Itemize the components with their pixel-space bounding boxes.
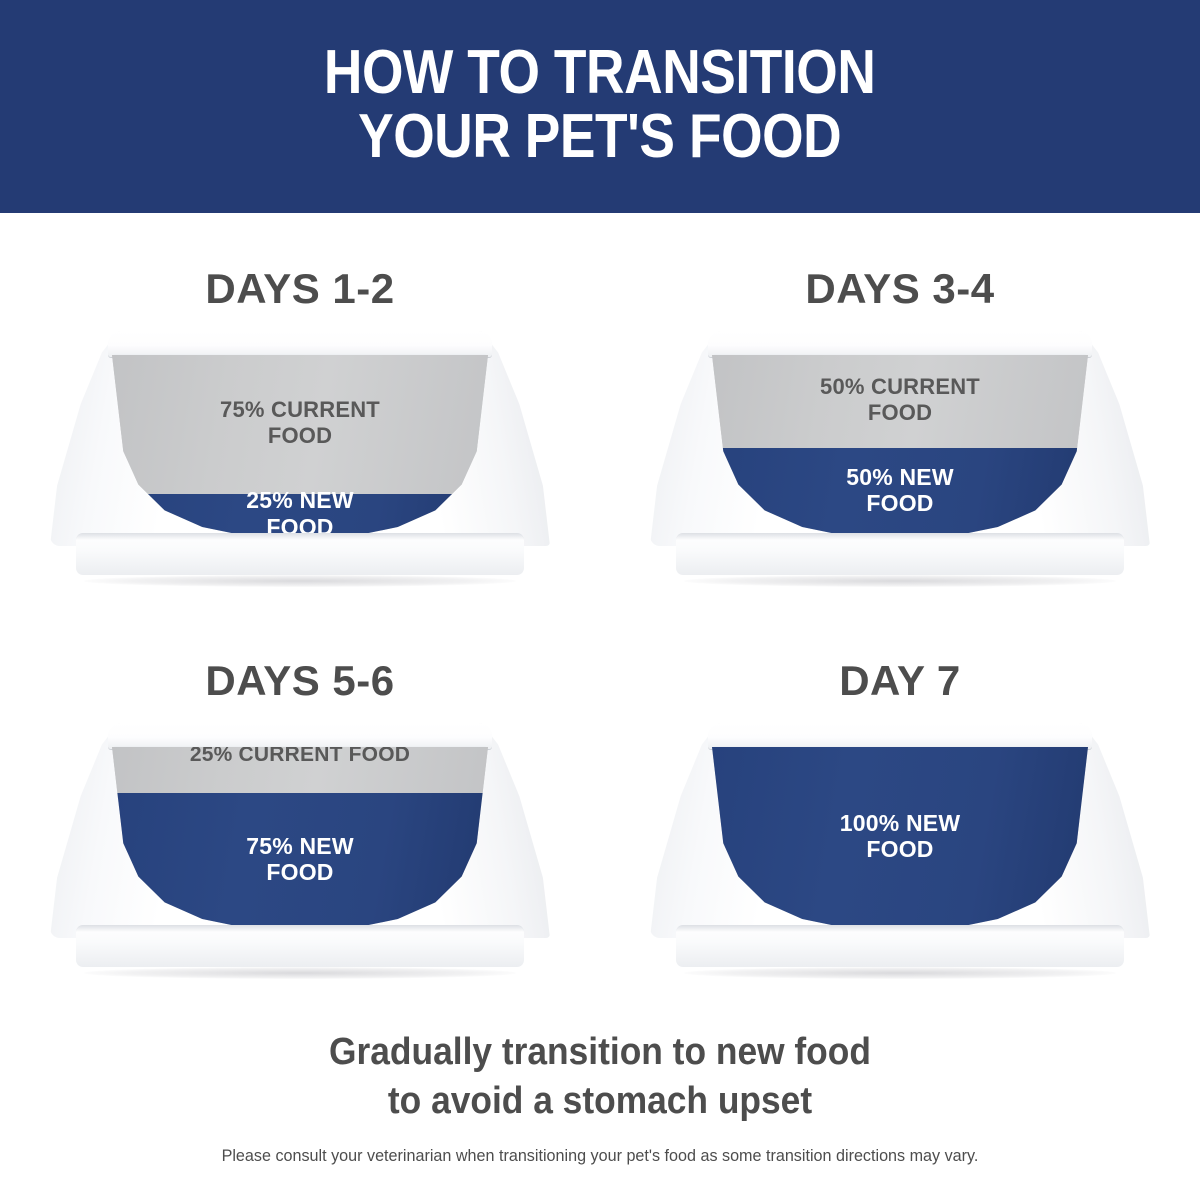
bowl-base bbox=[676, 533, 1124, 575]
footer-tagline: Gradually transition to new food to avoi… bbox=[42, 1028, 1158, 1125]
step-title: DAY 7 bbox=[600, 657, 1200, 705]
bowl-shadow bbox=[84, 967, 516, 979]
current-food-label: 50% CURRENT FOOD bbox=[712, 374, 1088, 425]
bowl-rim bbox=[708, 331, 1092, 357]
transition-step-panel: DAYS 1-2 75% CURRENT FOOD 25% NEW FOOD bbox=[0, 213, 600, 618]
bowl-shadow bbox=[684, 967, 1116, 979]
pet-food-bowl: 75% CURRENT FOOD 25% NEW FOOD bbox=[50, 331, 550, 581]
pet-food-bowl: 100% NEW FOOD bbox=[650, 723, 1150, 973]
bowl-base bbox=[76, 533, 524, 575]
bowl-rim bbox=[108, 331, 492, 357]
bowl-rim bbox=[108, 723, 492, 749]
bowl-cavity: 75% CURRENT FOOD 25% NEW FOOD bbox=[112, 355, 488, 540]
bowl-shadow bbox=[84, 575, 516, 587]
new-food-label: 50% NEW FOOD bbox=[712, 464, 1088, 517]
transition-step-panel: DAY 7 100% NEW FOOD bbox=[600, 605, 1200, 1010]
bowl-shadow bbox=[684, 575, 1116, 587]
transition-step-panel: DAYS 5-6 25% CURRENT FOOD 75% NEW FOOD bbox=[0, 605, 600, 1010]
transition-steps-grid: DAYS 1-2 75% CURRENT FOOD 25% NEW FOOD D… bbox=[0, 213, 1200, 1023]
new-food-label: 75% NEW FOOD bbox=[112, 833, 488, 886]
step-title: DAYS 1-2 bbox=[0, 265, 600, 313]
pet-food-bowl: 50% CURRENT FOOD 50% NEW FOOD bbox=[650, 331, 1150, 581]
bowl-cavity: 100% NEW FOOD bbox=[712, 747, 1088, 932]
bowl-base bbox=[676, 925, 1124, 967]
bowl-cavity: 50% CURRENT FOOD 50% NEW FOOD bbox=[712, 355, 1088, 540]
page-title: HOW TO TRANSITION YOUR PET'S FOOD bbox=[324, 41, 876, 167]
step-title: DAYS 3-4 bbox=[600, 265, 1200, 313]
bowl-rim bbox=[708, 723, 1092, 749]
bowl-base bbox=[76, 925, 524, 967]
current-food-label: 75% CURRENT FOOD bbox=[112, 397, 488, 448]
current-food-label: 25% CURRENT FOOD bbox=[112, 747, 488, 767]
footer-disclaimer: Please consult your veterinarian when tr… bbox=[30, 1146, 1170, 1166]
transition-step-panel: DAYS 3-4 50% CURRENT FOOD 50% NEW FOOD bbox=[600, 213, 1200, 618]
bowl-cavity: 25% CURRENT FOOD 75% NEW FOOD bbox=[112, 747, 488, 932]
page-header: HOW TO TRANSITION YOUR PET'S FOOD bbox=[0, 0, 1200, 213]
new-food-label: 100% NEW FOOD bbox=[712, 810, 1088, 863]
pet-food-bowl: 25% CURRENT FOOD 75% NEW FOOD bbox=[50, 723, 550, 973]
step-title: DAYS 5-6 bbox=[0, 657, 600, 705]
